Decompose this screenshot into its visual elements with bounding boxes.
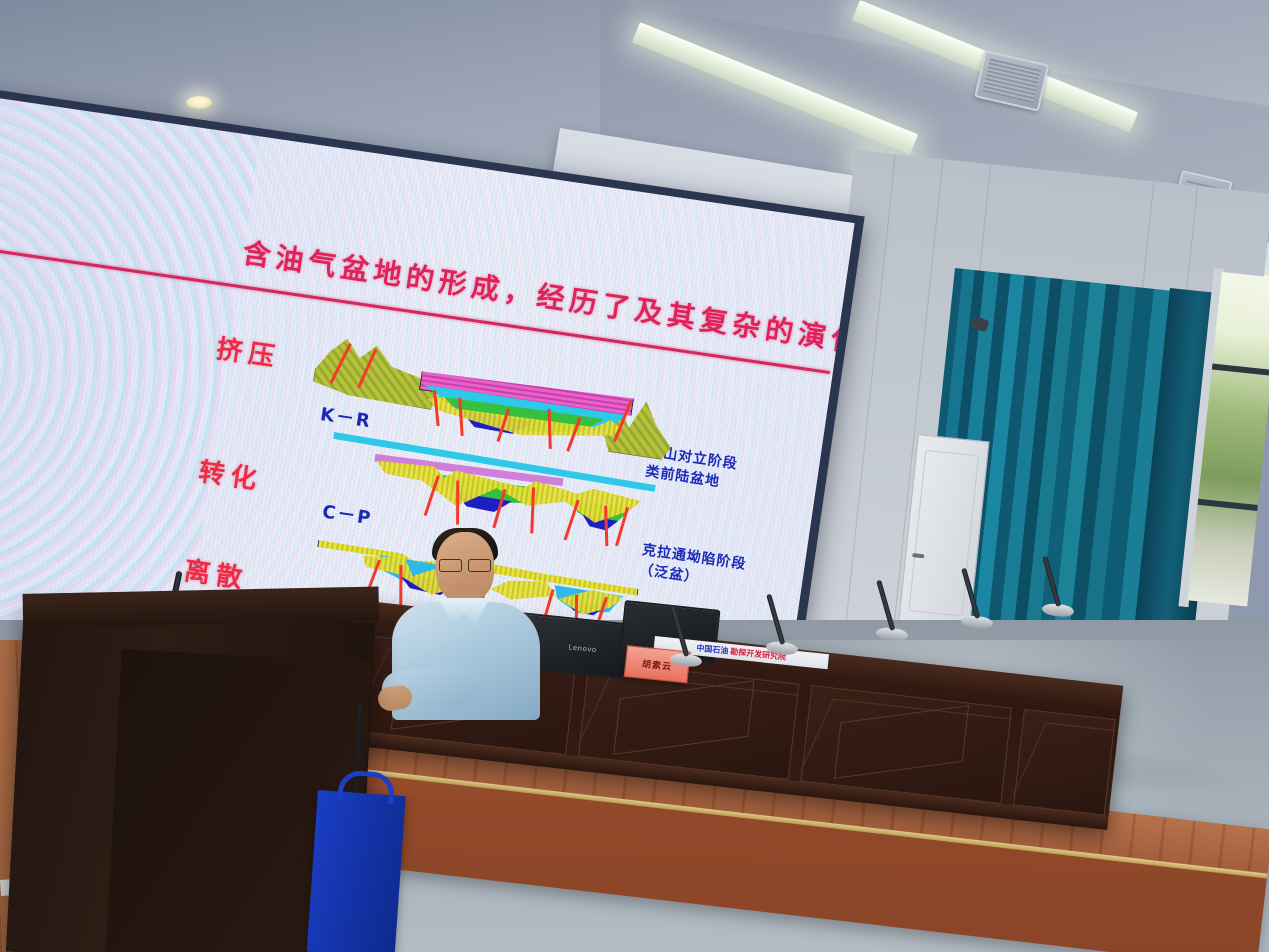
desk-panel	[1013, 709, 1115, 816]
podium-top-surface	[23, 586, 380, 627]
glasses-icon	[439, 559, 491, 570]
mountain-left-icon	[311, 331, 445, 411]
note-transition: 克拉通坳陷阶段 （泛盆）	[638, 540, 748, 595]
tote-bag	[307, 790, 406, 952]
fault-line	[456, 480, 459, 524]
downlight-1	[186, 96, 212, 109]
banner-left-text: 中国石油	[696, 642, 729, 656]
fault-line	[530, 487, 534, 533]
stage-label-transition: 转化	[197, 451, 266, 497]
conference-hall-photo: 含油气盆地的形成，经历了及其复杂的演化历史 挤压 转化 离散 K－R C－P Є…	[0, 0, 1269, 952]
stage-label-compression: 挤压	[214, 329, 283, 375]
speaker-person	[386, 528, 546, 718]
